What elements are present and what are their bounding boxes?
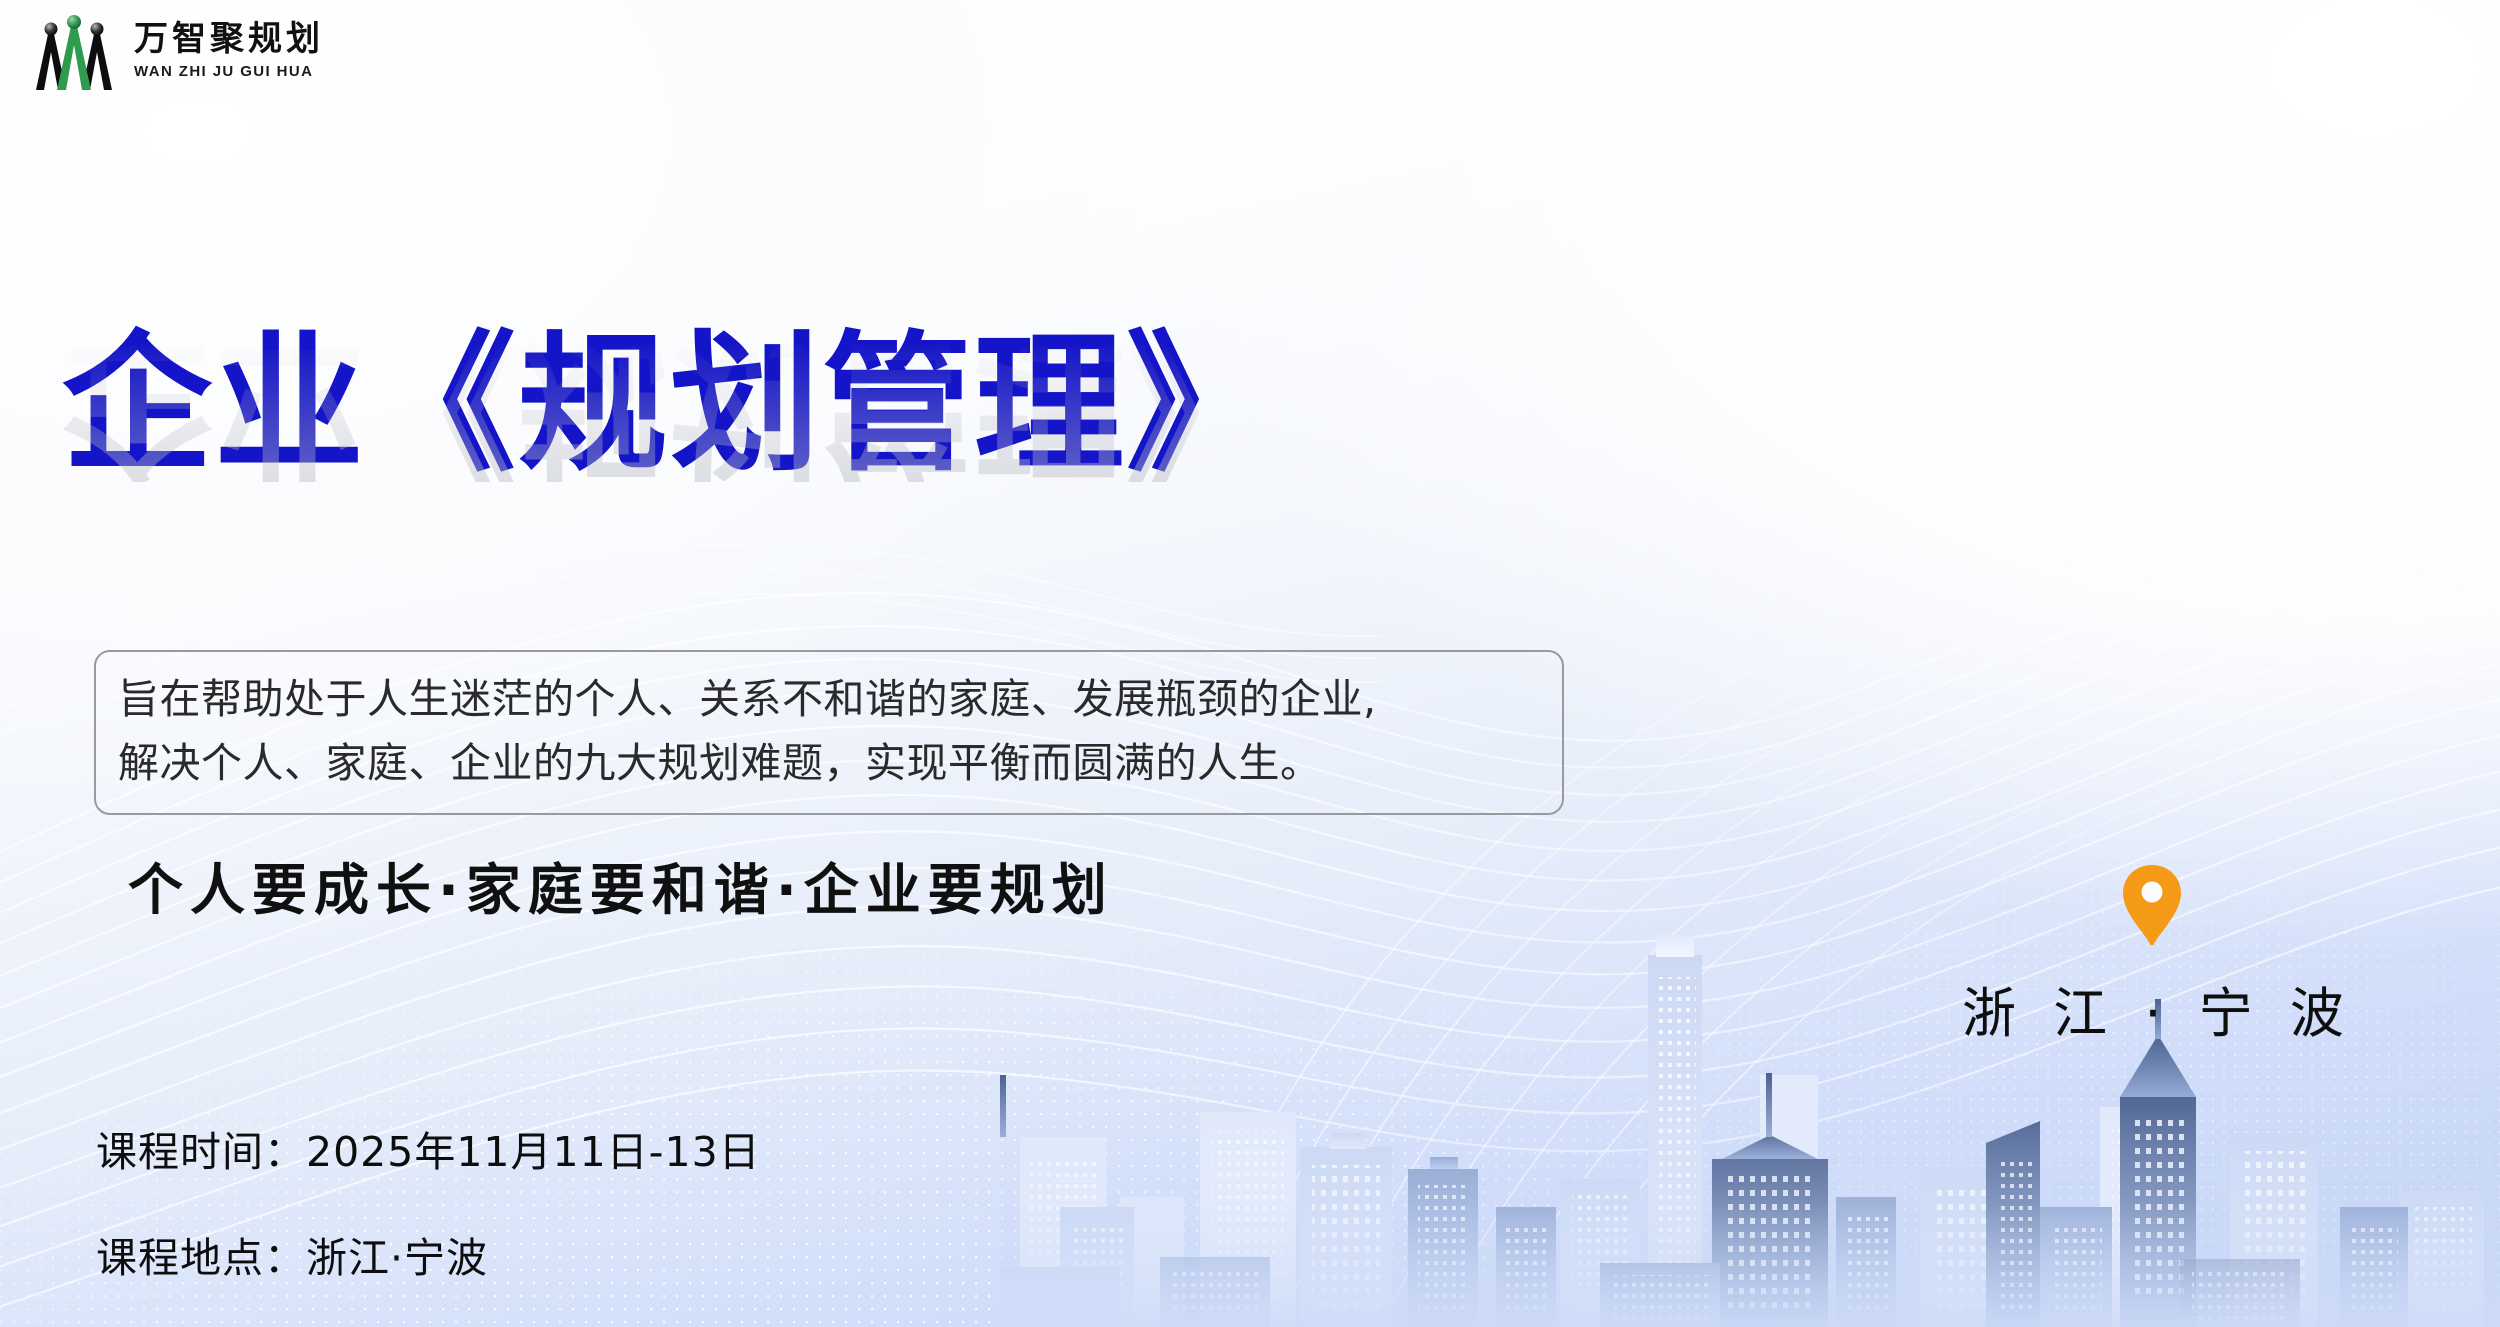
brand-name-en: WAN ZHI JU GUI HUA [134, 64, 324, 79]
description-line-2: 解决个人、家庭、企业的九大规划难题，实现平衡而圆满的人生。 [118, 732, 1538, 796]
location-text: 浙 江 · 宁 波 [1962, 969, 2342, 1048]
brand-name-cn: 万智聚规划 [134, 23, 324, 57]
hero-title-block: 企业《规划管理》 企业《规划管理》 [62, 330, 1662, 632]
poster-canvas: 万智聚规划 WAN ZHI JU GUI HUA 企业《规划管理》 企业《规划管… [0, 0, 2500, 1327]
location-block: 浙 江 · 宁 波 [1962, 863, 2342, 1048]
brand-logo[interactable]: 万智聚规划 WAN ZHI JU GUI HUA [28, 12, 324, 90]
map-pin-icon [2121, 863, 2183, 947]
description-box: 旨在帮助处于人生迷茫的个人、关系不和谐的家庭、发展瓶颈的企业, 解决个人、家庭、… [94, 650, 1564, 815]
course-place: 课程地点：浙江·宁波 [96, 1224, 761, 1284]
description-line-1: 旨在帮助处于人生迷茫的个人、关系不和谐的家庭、发展瓶颈的企业, [118, 668, 1538, 732]
course-time: 课程时间：2025年11月11日-13日 [96, 1118, 761, 1178]
page-title-reflection: 企业《规划管理》 [62, 332, 1662, 482]
brand-wordmark: 万智聚规划 WAN ZHI JU GUI HUA [134, 23, 324, 79]
tagline: 个人要成长·家庭要和谐·企业要规划 [128, 845, 1114, 925]
course-info: 课程时间：2025年11月11日-13日 课程地点：浙江·宁波 [96, 1118, 761, 1284]
three-people-m-logo-icon [28, 12, 120, 90]
